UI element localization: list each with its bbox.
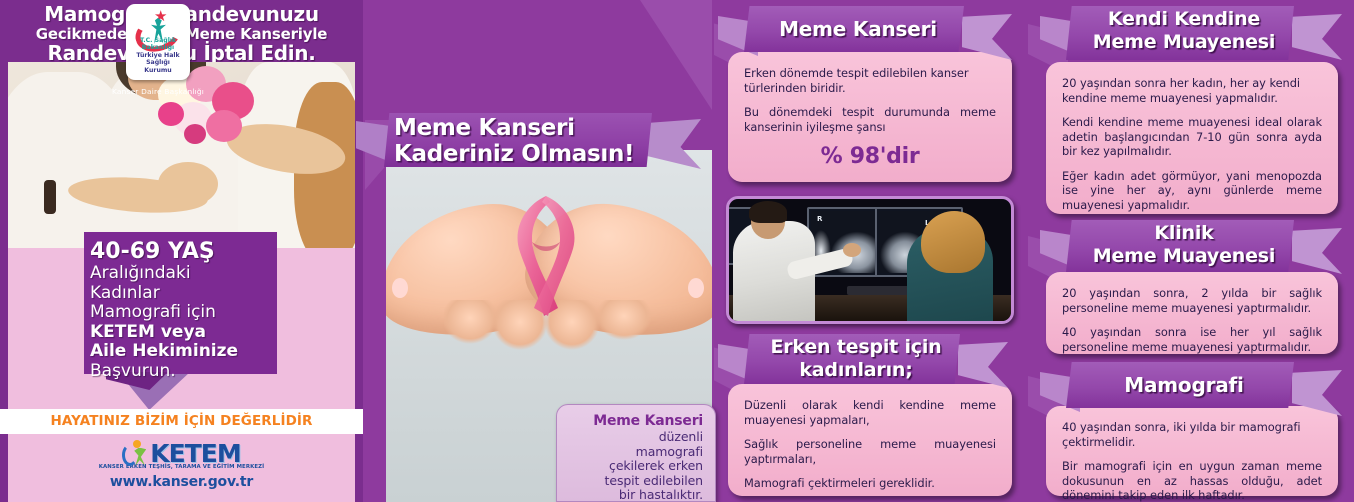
nail xyxy=(688,278,704,298)
ketem-figure-icon xyxy=(122,440,148,468)
right-column-right: Kendi Kendine Meme Muayenesi 20 yaşından… xyxy=(1026,0,1354,502)
card-paragraph: Sağlık personeline meme muayenesi yaptır… xyxy=(744,437,996,466)
banner-title: Mamografi xyxy=(1060,362,1308,408)
card-paragraph: Düzenli olarak kendi kendine meme muayen… xyxy=(744,398,996,427)
right-panel: Meme Kanseri Erken dönemde tespit edileb… xyxy=(714,0,1354,502)
card-paragraph: Mamografi çektirmeleri gereklidir. xyxy=(744,476,996,491)
card-paragraph: Bu dönemdeki tespit durumunda meme kanse… xyxy=(744,105,996,134)
card-paragraph: 20 yaşından sonra, 2 yılda bir sağlık pe… xyxy=(1062,286,1322,315)
ketem-url[interactable]: www.kanser.gov.tr xyxy=(8,474,355,490)
banner-title-line-2: Meme Muayenesi xyxy=(1060,31,1308,54)
middle-card-line-3: çekilerek erken xyxy=(567,459,703,474)
banner-title: Meme Kanseri xyxy=(738,6,978,52)
survival-rate-highlight: % 98'dir xyxy=(744,144,996,169)
card-paragraph: Bir mamografi için en uygun zaman meme d… xyxy=(1062,459,1322,502)
slogan-strip: HAYATINIZ BİZİM İÇİN DEĞERLİDİR xyxy=(0,409,363,434)
speech-line-3: Mamografi için xyxy=(90,303,278,323)
right-column-left: Meme Kanseri Erken dönemde tespit edileb… xyxy=(714,0,1026,502)
middle-card-line-1: düzenli xyxy=(567,430,703,445)
banner-title: Klinik Meme Muayenesi xyxy=(1060,220,1308,268)
slogan-text: HAYATINIZ BİZİM İÇİN DEĞERLİDİR xyxy=(0,409,363,434)
banner-title-line-2: kadınların; xyxy=(738,359,974,382)
middle-card-line-5: bir hastalıktır. xyxy=(567,488,703,502)
ministry-line-2: Türkiye Halk Sağlığı xyxy=(126,52,190,67)
card-paragraph: Kendi kendine meme muayenesi ideal olara… xyxy=(1062,115,1322,159)
banner-mamografi: Mamografi xyxy=(1060,362,1308,408)
middle-card-line-2: mamografi xyxy=(567,445,703,460)
banner-meme-kanseri: Meme Kanseri xyxy=(738,6,978,52)
ministry-department: Kanser Daire Başkanlığı xyxy=(96,87,220,96)
nail xyxy=(392,278,408,298)
banner-title-line-1: Klinik xyxy=(1060,222,1308,245)
poster-root: Mamografi Randevunuzu Gecikmeden Alın, M… xyxy=(0,0,1354,502)
ministry-logo-card: ★ T.C. Sağlık Bakanlığı Türkiye Halk Sağ… xyxy=(126,4,190,80)
banner-erken-tespit: Erken tespit için kadınların; xyxy=(738,334,974,384)
ketem-logo-block: KETEM KANSER ERKEN TEŞHİS, TARAMA VE EĞİ… xyxy=(8,434,355,502)
card-paragraph: Eğer kadın adet görmüyor, yani menopozda… xyxy=(1062,169,1322,213)
banner-klinik: Klinik Meme Muayenesi xyxy=(1060,220,1308,272)
card-klinik: 20 yaşından sonra, 2 yılda bir sağlık pe… xyxy=(1046,272,1338,354)
ketem-logo: KETEM KANSER ERKEN TEŞHİS, TARAMA VE EĞİ… xyxy=(99,439,265,471)
banner-title-line-1: Kendi Kendine xyxy=(1060,8,1308,31)
speech-line-4: KETEM veya xyxy=(90,323,278,343)
banner-text: Meme Kanseri Kaderiniz Olmasın! xyxy=(394,115,654,167)
card-meme-kanseri: Erken dönemde tespit edilebilen kanser t… xyxy=(728,52,1012,182)
banner-title-line-1: Erken tespit için xyxy=(738,336,974,359)
middle-banner-line-2: Kaderiniz Olmasın! xyxy=(394,141,654,167)
middle-info-card: Meme Kanseri düzenli mamografi çekilerek… xyxy=(556,404,716,502)
speech-line-5: Aile Hekiminize xyxy=(90,342,278,362)
card-paragraph: 40 yaşından sonra ise her yıl sağlık per… xyxy=(1062,325,1322,354)
card-paragraph: Erken dönemde tespit edilebilen kanser t… xyxy=(744,66,996,95)
middle-banner-line-1: Meme Kanseri xyxy=(394,115,654,141)
ministry-line-3: Kurumu xyxy=(126,67,190,75)
card-paragraph: 40 yaşından sonra, iki yılda bir mamogra… xyxy=(1062,420,1322,449)
age-range-text: 40-69 YAŞ xyxy=(90,239,278,264)
banner-title: Erken tespit için kadınların; xyxy=(738,334,974,382)
card-kendi-kendine: 20 yaşından sonra her kadın, her ay kend… xyxy=(1046,62,1338,214)
ministry-line-1: T.C. Sağlık Bakanlığı xyxy=(126,37,190,52)
banner-kendi-kendine: Kendi Kendine Meme Muayenesi xyxy=(1060,6,1308,60)
mammogram-label-left: R xyxy=(817,215,822,223)
speech-line-1: Aralığındaki xyxy=(90,264,278,284)
speech-bubble-text: 40-69 YAŞ Aralığındaki Kadınlar Mamograf… xyxy=(90,239,278,381)
speech-line-6: Başvurun. xyxy=(90,362,278,382)
pink-ribbon-icon xyxy=(494,190,598,320)
card-erken-tespit: Düzenli olarak kendi kendine meme muayen… xyxy=(728,384,1012,496)
middle-card-line-4: tespit edilebilen xyxy=(567,474,703,489)
speech-line-2: Kadınlar xyxy=(90,284,278,304)
card-paragraph: 20 yaşından sonra her kadın, her ay kend… xyxy=(1062,76,1322,105)
banner-title-line-2: Meme Muayenesi xyxy=(1060,245,1308,268)
doctor-patient-photo: R L xyxy=(726,196,1014,324)
middle-banner: Meme Kanseri Kaderiniz Olmasın! xyxy=(378,113,663,167)
middle-card-title: Meme Kanseri xyxy=(567,413,703,430)
card-mamografi: 40 yaşından sonra, iki yılda bir mamogra… xyxy=(1046,406,1338,496)
ministry-logo-block: ★ T.C. Sağlık Bakanlığı Türkiye Halk Sağ… xyxy=(96,4,220,96)
banner-title: Kendi Kendine Meme Muayenesi xyxy=(1060,6,1308,54)
